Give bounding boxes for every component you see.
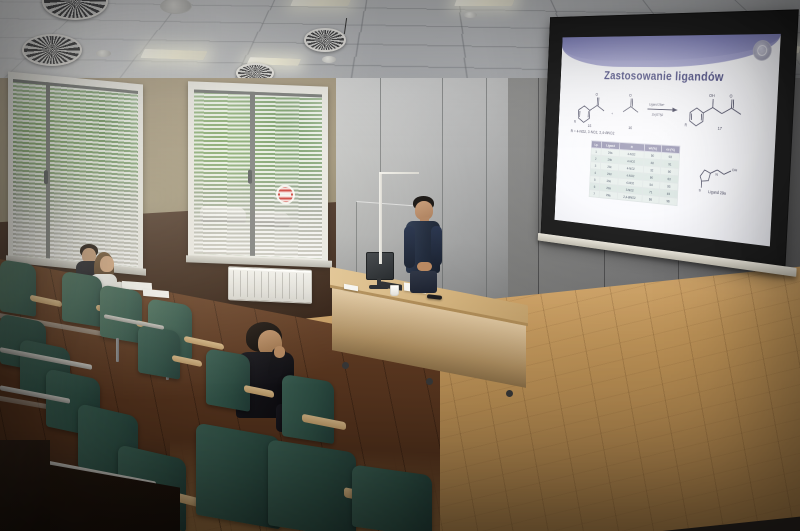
table-cell: 2,4-diNO2 (617, 192, 642, 202)
results-table: Lp.LigandRwł (%)ee (%) 129a4-NO25093229b… (589, 140, 681, 206)
screen-surface: Zastosowanie ligandów (555, 34, 781, 247)
svg-text:16: 16 (628, 125, 633, 130)
lecture-hall-photo: Zastosowanie ligandów (0, 0, 800, 531)
table-cell: 7 (589, 190, 599, 198)
table-body: 129a4-NO25093229b4-NO24891329c4-NO232604… (589, 148, 679, 206)
svg-text:N: N (715, 172, 718, 177)
smoke-detector-icon (322, 56, 336, 63)
desk-caster (506, 390, 513, 397)
slide-title: Zastosowanie ligandów (561, 68, 779, 85)
substituent-note: R = 4-NO2, 3-NO2, 2,4-diNO2 (571, 129, 615, 136)
room: Zastosowanie ligandów (0, 0, 800, 531)
svg-text:Ligand 29a+: Ligand 29a+ (649, 102, 665, 107)
presenter-arm-left (404, 226, 415, 268)
ligand-structure: OH N S Ligand 29a (691, 154, 746, 202)
radiator (228, 266, 312, 304)
slide-header-band-accent (562, 34, 781, 61)
svg-text:+: + (611, 112, 613, 116)
window-right (188, 81, 328, 266)
attendee-hand (274, 346, 285, 358)
university-seal-icon (752, 40, 772, 61)
presenter-hands (417, 262, 432, 271)
table-cell: 96 (659, 197, 677, 206)
svg-text:O: O (729, 93, 732, 99)
window-blinds[interactable] (13, 79, 138, 267)
support-pole (379, 172, 382, 264)
svg-text:O: O (629, 93, 632, 98)
svg-text:R: R (574, 120, 577, 124)
svg-text:OH: OH (709, 93, 715, 99)
smoke-detector-icon (96, 50, 111, 57)
support-pole-arm (379, 172, 419, 174)
svg-text:R: R (684, 123, 687, 127)
table-cell: 68 (642, 195, 660, 204)
ceiling-air-vent (22, 34, 82, 66)
desk-caster (426, 378, 433, 385)
desk-caster (342, 362, 349, 369)
paper-cup (390, 285, 399, 296)
presenter (400, 196, 454, 296)
ceiling-light-panel (290, 0, 352, 6)
presenter-arm-right (431, 226, 442, 266)
table-cell: 29a (599, 191, 617, 200)
projection-screen: Zastosowanie ligandów (544, 18, 791, 284)
svg-text:OH: OH (732, 168, 738, 173)
svg-text:15: 15 (588, 123, 592, 128)
ceiling-air-vent (236, 63, 274, 78)
window-blinds[interactable] (194, 90, 322, 259)
foreground-seat-mass (0, 440, 50, 531)
ceiling-light-panel (454, 0, 516, 6)
smoke-detector-icon (464, 12, 477, 18)
presentation-slide: Zastosowanie ligandów (555, 34, 781, 247)
svg-text:17: 17 (718, 125, 723, 131)
svg-text:Zn(OTf)2: Zn(OTf)2 (652, 112, 664, 117)
svg-text:O: O (595, 92, 598, 97)
presenter-trousers (410, 271, 437, 293)
ceiling-air-vent (304, 28, 346, 52)
